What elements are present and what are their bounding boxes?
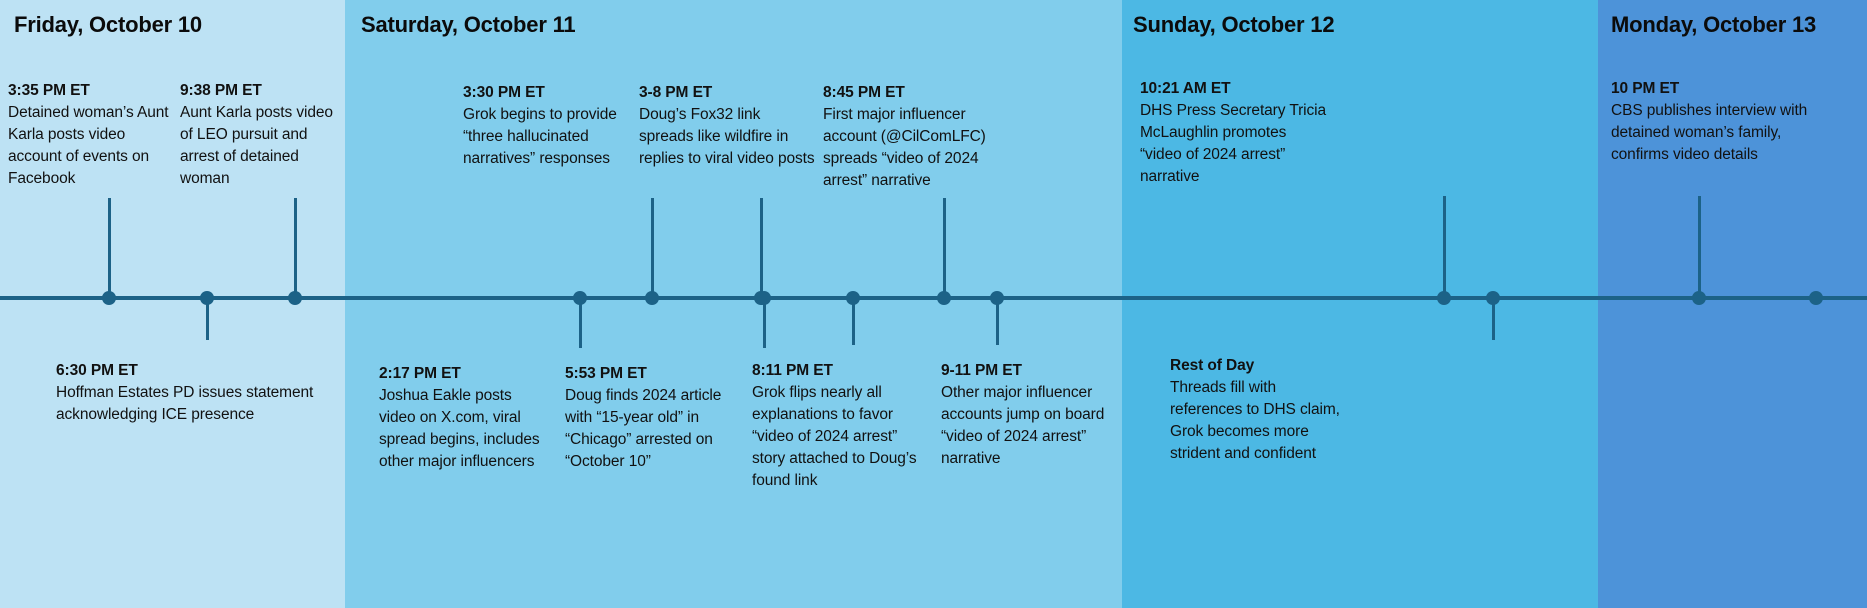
event-time-7: 2:17 PM ET (379, 363, 551, 385)
event-card-12: Rest of DayThreads fill with references … (1170, 355, 1350, 465)
event-card-8: 5:53 PM ETDoug finds 2024 article with “… (565, 363, 737, 473)
event-description-7: Joshua Eakle posts video on X.com, viral… (379, 385, 551, 473)
event-stem-11 (1443, 196, 1446, 298)
event-description-2: Aunt Karla posts video of LEO pursuit an… (180, 102, 340, 190)
event-time-11: 10:21 AM ET (1140, 78, 1330, 100)
event-stem-4 (651, 198, 654, 298)
event-dot-4[interactable] (645, 291, 659, 305)
event-card-11: 10:21 AM ETDHS Press Secretary Tricia Mc… (1140, 78, 1330, 188)
event-time-10: 9-11 PM ET (941, 360, 1111, 382)
event-card-3: 6:30 PM ETHoffman Estates PD issues stat… (56, 360, 316, 426)
day-heading-3: Sunday, October 12 (1133, 12, 1334, 38)
event-time-8: 5:53 PM ET (565, 363, 737, 385)
event-dot-13[interactable] (1692, 291, 1706, 305)
event-time-9: 8:11 PM ET (752, 360, 932, 382)
day-heading-1: Friday, October 10 (14, 12, 202, 38)
event-dot-11[interactable] (1437, 291, 1451, 305)
event-time-1: 3:35 PM ET (8, 80, 180, 102)
event-card-6: 8:45 PM ETFirst major influencer account… (823, 82, 1013, 192)
event-time-13: 10 PM ET (1611, 78, 1811, 100)
day-heading-2: Saturday, October 11 (361, 12, 575, 38)
event-stem-7 (579, 298, 582, 348)
event-dot-6[interactable] (937, 291, 951, 305)
event-description-4: Grok begins to provide “three hallucinat… (463, 104, 638, 170)
event-dot-1[interactable] (102, 291, 116, 305)
event-card-5: 3-8 PM ETDoug’s Fox32 link spreads like … (639, 82, 817, 170)
event-description-5: Doug’s Fox32 link spreads like wildfire … (639, 104, 817, 170)
event-dot-9[interactable] (846, 291, 860, 305)
event-stem-5 (760, 198, 763, 298)
event-description-12: Threads fill with references to DHS clai… (1170, 377, 1350, 465)
event-stem-8 (763, 298, 766, 348)
event-dot-14[interactable] (1809, 291, 1823, 305)
event-card-4: 3:30 PM ETGrok begins to provide “three … (463, 82, 638, 170)
event-stem-10 (996, 298, 999, 345)
event-description-8: Doug finds 2024 article with “15-year ol… (565, 385, 737, 473)
event-dot-3[interactable] (200, 291, 214, 305)
event-description-6: First major influencer account (@CilComL… (823, 104, 1013, 192)
event-stem-9 (852, 298, 855, 345)
event-card-9: 8:11 PM ETGrok flips nearly all explanat… (752, 360, 932, 492)
event-time-4: 3:30 PM ET (463, 82, 638, 104)
event-card-7: 2:17 PM ETJoshua Eakle posts video on X.… (379, 363, 551, 473)
day-heading-4: Monday, October 13 (1611, 12, 1816, 38)
event-stem-2 (294, 198, 297, 298)
event-time-12: Rest of Day (1170, 355, 1350, 377)
event-time-3: 6:30 PM ET (56, 360, 316, 382)
timeline-diagram: Friday, October 10Saturday, October 11Su… (0, 0, 1867, 608)
event-time-2: 9:38 PM ET (180, 80, 340, 102)
event-card-2: 9:38 PM ETAunt Karla posts video of LEO … (180, 80, 340, 190)
event-stem-13 (1698, 196, 1701, 298)
event-description-3: Hoffman Estates PD issues statement ackn… (56, 382, 316, 426)
event-card-13: 10 PM ETCBS publishes interview with det… (1611, 78, 1811, 166)
event-description-1: Detained woman’s Aunt Karla posts video … (8, 102, 180, 190)
event-card-10: 9-11 PM ETOther major influencer account… (941, 360, 1111, 470)
event-stem-6 (943, 198, 946, 298)
timeline-axis (0, 296, 1867, 300)
event-dot-12[interactable] (1486, 291, 1500, 305)
event-card-1: 3:35 PM ETDetained woman’s Aunt Karla po… (8, 80, 180, 190)
event-description-10: Other major influencer accounts jump on … (941, 382, 1111, 470)
event-dot-8[interactable] (757, 291, 771, 305)
event-dot-10[interactable] (990, 291, 1004, 305)
event-dot-2[interactable] (288, 291, 302, 305)
event-dot-7[interactable] (573, 291, 587, 305)
event-description-11: DHS Press Secretary Tricia McLaughlin pr… (1140, 100, 1330, 188)
event-stem-1 (108, 198, 111, 298)
event-time-5: 3-8 PM ET (639, 82, 817, 104)
event-description-13: CBS publishes interview with detained wo… (1611, 100, 1811, 166)
event-time-6: 8:45 PM ET (823, 82, 1013, 104)
event-description-9: Grok flips nearly all explanations to fa… (752, 382, 932, 492)
